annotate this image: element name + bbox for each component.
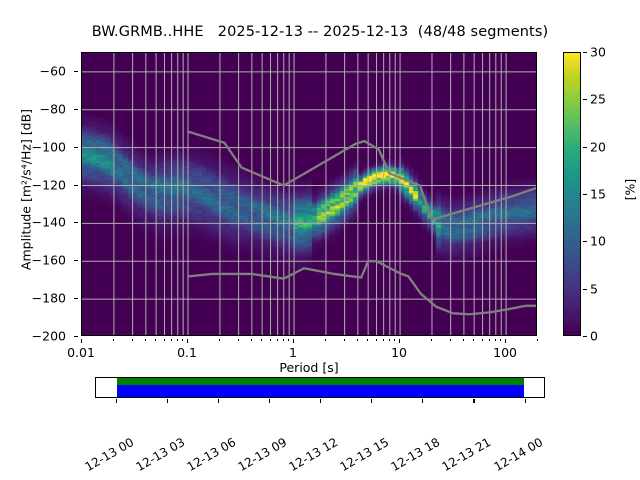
x-axis-tickmark <box>399 339 400 343</box>
y-axis-tick-label: −200 <box>0 329 74 344</box>
x-axis-tickmark <box>277 339 278 341</box>
x-axis-tick-label: 100 <box>493 345 517 360</box>
x-axis-tickmark <box>238 339 239 341</box>
x-axis-tickmark <box>164 339 165 341</box>
y-axis-tickmark <box>74 185 78 186</box>
colorbar-tick-label: 15 <box>590 187 606 202</box>
x-axis-tickmark <box>145 339 146 341</box>
y-axis-tick-label: −100 <box>0 139 74 154</box>
x-axis-tick-label: 0.1 <box>177 345 197 360</box>
colorbar-tick-label: 25 <box>590 92 606 107</box>
coverage-blue-band <box>117 385 524 397</box>
time-axis-tick-label: 12-13 03 <box>134 435 188 474</box>
time-axis-tickmark <box>116 399 117 403</box>
y-axis-tick-label: −60 <box>0 63 74 78</box>
x-axis-tickmark <box>489 339 490 341</box>
page-title: BW.GRMB..HHE 2025-12-13 -- 2025-12-13 (4… <box>0 24 640 40</box>
colorbar-label: [%] <box>623 160 638 220</box>
time-axis-tick-labels: 12-13 0012-13 0312-13 0612-13 0912-13 12… <box>95 400 545 470</box>
time-axis-tickmark <box>473 399 474 403</box>
time-axis-tick-label: 12-13 00 <box>83 435 137 474</box>
x-axis-tickmark <box>219 339 220 341</box>
x-axis-tickmark <box>394 339 395 341</box>
x-axis-tickmark <box>182 339 183 341</box>
colorbar-tick-label: 0 <box>590 329 598 344</box>
y-axis-tickmark <box>74 109 78 110</box>
time-axis-tickmark <box>167 399 168 403</box>
y-axis-tick-labels: −60−80−100−120−140−160−180−200 <box>0 52 74 336</box>
x-axis-tickmark <box>177 339 178 341</box>
x-axis-tick-labels: 0.010.1110100 <box>81 339 537 359</box>
colorbar-tickmark <box>583 52 587 53</box>
x-axis-tickmark <box>283 339 284 341</box>
x-axis-tickmark <box>473 339 474 341</box>
colorbar-tickmark <box>583 289 587 290</box>
y-axis-tick-label: −180 <box>0 291 74 306</box>
x-axis-tickmark <box>505 339 506 343</box>
time-axis-tickmark <box>422 399 423 403</box>
x-axis-tick-label: 10 <box>391 345 407 360</box>
x-axis-tickmark <box>132 339 133 341</box>
y-axis-tickmark <box>74 71 78 72</box>
x-axis-tickmark <box>450 339 451 341</box>
x-axis-tickmark <box>155 339 156 341</box>
time-axis-tickmark <box>320 399 321 403</box>
x-axis-tickmark <box>288 339 289 341</box>
x-axis-tickmark <box>293 339 294 343</box>
x-axis-tickmark <box>357 339 358 341</box>
colorbar-tickmark <box>583 194 587 195</box>
time-axis-tickmark <box>371 399 372 403</box>
colorbar-tick-label: 20 <box>590 139 606 154</box>
colorbar-tick-label: 30 <box>590 45 606 60</box>
colorbar-gradient <box>564 53 580 335</box>
y-axis-tick-label: −120 <box>0 177 74 192</box>
x-axis-tickmark <box>251 339 252 341</box>
coverage-bar-area[interactable] <box>95 377 545 398</box>
y-axis-tick-label: −160 <box>0 253 74 268</box>
x-axis-tickmark <box>482 339 483 341</box>
x-axis-tick-label: 0.01 <box>67 345 95 360</box>
x-axis-tickmark <box>81 339 82 343</box>
y-axis-label: Amplitude [m²/s⁴/Hz] [dB] <box>19 48 34 332</box>
y-axis-tick-label: −140 <box>0 215 74 230</box>
x-axis-tickmark <box>113 339 114 341</box>
colorbar-tickmark <box>583 99 587 100</box>
colorbar-tickmark <box>583 336 587 337</box>
time-axis-tickmark <box>525 399 526 403</box>
time-axis-tick-label: 12-14 00 <box>491 435 545 474</box>
x-axis-tickmark <box>325 339 326 341</box>
x-axis-tickmark <box>367 339 368 341</box>
x-axis-tickmark <box>431 339 432 341</box>
x-axis-tickmark <box>500 339 501 341</box>
y-axis-tickmark <box>74 222 78 223</box>
time-axis-tickmark <box>218 399 219 403</box>
y-axis-tickmark <box>74 336 78 337</box>
ppsd-plot-area[interactable] <box>81 52 537 336</box>
time-axis-tick-label: 12-13 09 <box>236 435 290 474</box>
x-axis-tickmark <box>171 339 172 341</box>
x-axis-tick-label: 1 <box>289 345 297 360</box>
x-axis-tickmark <box>383 339 384 341</box>
time-axis-tick-label: 12-13 12 <box>287 435 341 474</box>
time-axis-tick-label: 12-13 06 <box>184 435 238 474</box>
time-axis-tick-label: 12-13 15 <box>338 435 392 474</box>
colorbar[interactable] <box>563 52 581 336</box>
x-axis-label: Period [s] <box>81 360 537 375</box>
time-axis-tick-label: 12-13 21 <box>440 435 494 474</box>
noise-model-nhnm <box>188 132 537 220</box>
colorbar-tick-label: 5 <box>590 281 598 296</box>
x-axis-tickmark <box>187 339 188 343</box>
colorbar-tick-label: 10 <box>590 234 606 249</box>
x-axis-tickmark <box>537 339 538 341</box>
x-axis-tickmark <box>463 339 464 341</box>
x-axis-tickmark <box>261 339 262 341</box>
noise-model-nlnm <box>188 261 537 314</box>
x-axis-tickmark <box>344 339 345 341</box>
coverage-green-band <box>117 378 524 385</box>
peterson-noise-model-curves <box>82 53 537 336</box>
colorbar-tickmark <box>583 147 587 148</box>
y-axis-tick-label: −80 <box>0 101 74 116</box>
y-axis-tickmark <box>74 260 78 261</box>
time-axis-tick-label: 12-13 18 <box>389 435 443 474</box>
x-axis-tickmark <box>389 339 390 341</box>
x-axis-tickmark <box>270 339 271 341</box>
x-axis-tickmark <box>495 339 496 341</box>
colorbar-tickmark <box>583 241 587 242</box>
y-axis-tickmark <box>74 298 78 299</box>
time-axis-tickmark <box>269 399 270 403</box>
y-axis-tickmark <box>74 147 78 148</box>
colorbar-tick-labels: 051015202530 <box>583 52 623 336</box>
x-axis-tickmark <box>376 339 377 341</box>
